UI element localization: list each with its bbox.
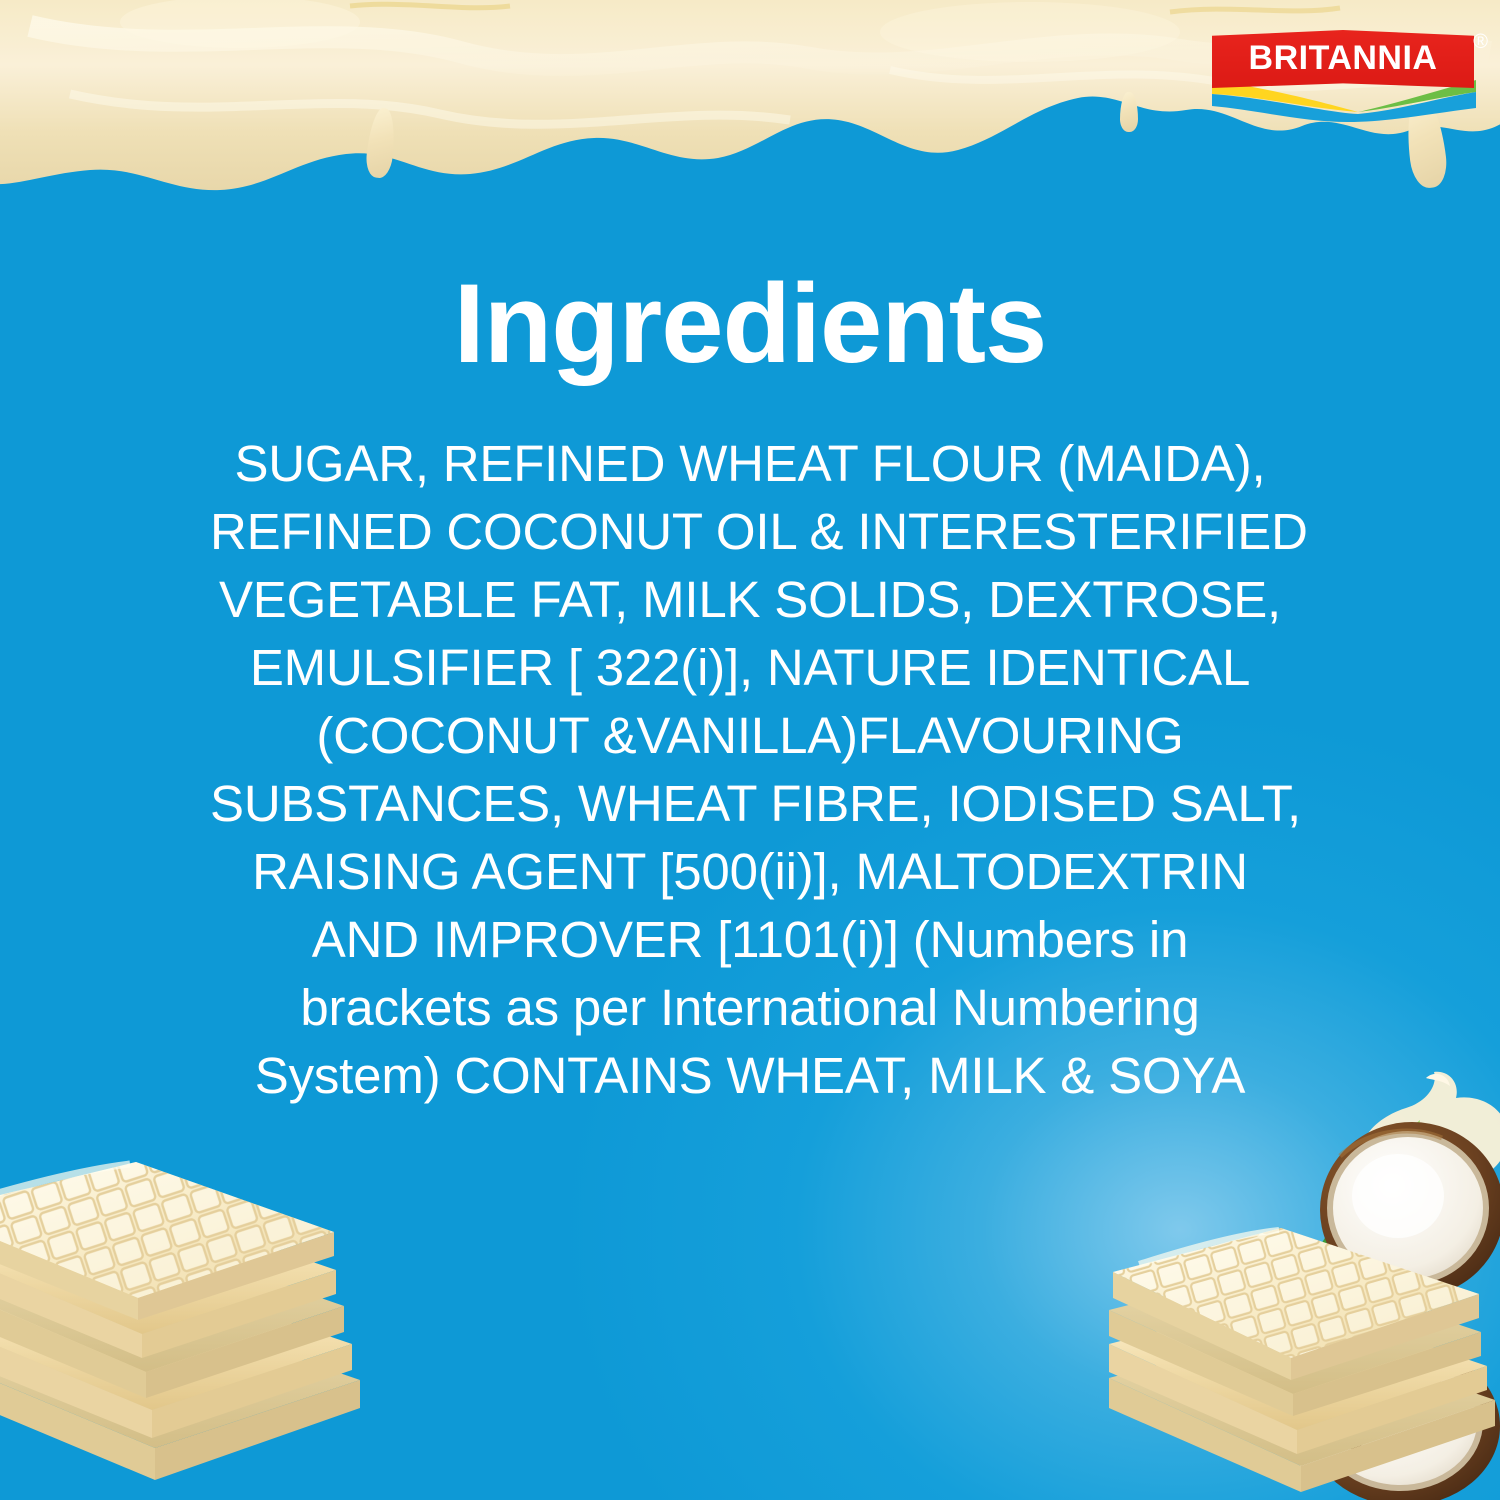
ingredients-line: System) CONTAINS WHEAT, MILK & SOYA xyxy=(210,1042,1290,1110)
britannia-logo: BRITANNIA ® xyxy=(1212,30,1474,128)
product-ingredients-panel: BRITANNIA ® Ingredients SUGAR, REFINED W… xyxy=(0,0,1500,1500)
logo-wordmark: BRITANNIA xyxy=(1212,39,1474,78)
ingredients-line: SUBSTANCES, WHEAT FIBRE, IODISED SALT, xyxy=(210,770,1290,838)
ingredients-line: EMULSIFIER [ 322(i)], NATURE IDENTICAL xyxy=(210,634,1290,702)
ingredients-line: SUGAR, REFINED WHEAT FLOUR (MAIDA), xyxy=(210,430,1290,498)
wafer-stack-icon xyxy=(1095,1160,1500,1500)
ingredients-line: AND IMPROVER [1101(i)] (Numbers in xyxy=(210,906,1290,974)
ingredients-text-block: SUGAR, REFINED WHEAT FLOUR (MAIDA), REFI… xyxy=(210,430,1290,1110)
page-title: Ingredients xyxy=(0,268,1500,380)
wafer-stack-icon xyxy=(0,1108,400,1500)
ingredients-line: brackets as per International Numbering xyxy=(210,974,1290,1042)
ingredients-line: VEGETABLE FAT, MILK SOLIDS, DEXTROSE, xyxy=(210,566,1290,634)
ingredients-line: RAISING AGENT [500(ii)], MALTODEXTRIN xyxy=(210,838,1290,906)
ingredients-line: (COCONUT &VANILLA)FLAVOURING xyxy=(210,702,1290,770)
registered-trademark-icon: ® xyxy=(1473,32,1488,52)
ingredients-line: REFINED COCONUT OIL & INTERESTERIFIED xyxy=(210,498,1290,566)
